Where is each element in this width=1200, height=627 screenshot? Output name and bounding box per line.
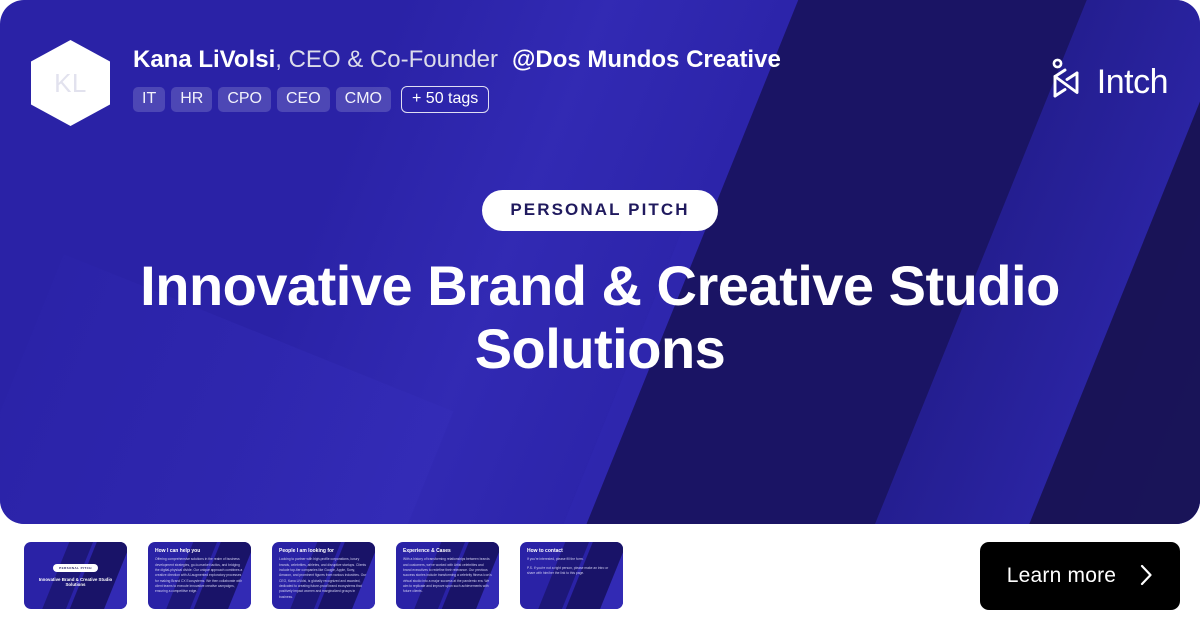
- card-body: Offering comprehensive solutions in the …: [155, 557, 244, 594]
- card-title: Innovative Brand & Creative Studio Solut…: [37, 577, 114, 588]
- tag-cpo[interactable]: CPO: [218, 87, 271, 112]
- profile-company: @Dos Mundos Creative: [512, 46, 781, 73]
- learn-more-label: Learn more: [1007, 564, 1116, 588]
- avatar-initials: KL: [54, 68, 87, 99]
- page-title: Innovative Brand & Creative Studio Solut…: [140, 255, 1060, 380]
- card-title: How to contact: [527, 548, 616, 554]
- slide-thumbnail-3[interactable]: People I am looking for Looking to partn…: [272, 542, 375, 609]
- card-hero-layout: PERSONAL PITCH Innovative Brand & Creati…: [31, 548, 120, 603]
- tag-it[interactable]: IT: [133, 87, 165, 112]
- profile-tag-list: IT HR CPO CEO CMO + 50 tags: [133, 86, 489, 113]
- profile-name: Kana LiVolsi: [133, 46, 275, 73]
- slide-thumbnail-4[interactable]: Experience & Cases With a history of tra…: [396, 542, 499, 609]
- profile-header: KL Kana LiVolsi, CEO & Co-Founder@Dos Mu…: [0, 0, 1200, 164]
- card-content: People I am looking for Looking to partn…: [272, 542, 375, 609]
- card-content: Experience & Cases With a history of tra…: [396, 542, 499, 609]
- card-badge: PERSONAL PITCH: [53, 564, 98, 572]
- card-body: With a history of transforming relations…: [403, 557, 492, 594]
- card-body: Looking to partner with high-profile cor…: [279, 557, 368, 600]
- personal-pitch-badge: PERSONAL PITCH: [482, 190, 717, 231]
- card-content: PERSONAL PITCH Innovative Brand & Creati…: [24, 542, 127, 609]
- hero-content: PERSONAL PITCH Innovative Brand & Creati…: [0, 190, 1200, 380]
- slide-thumbnail-5[interactable]: How to contact If you're interested, ple…: [520, 542, 623, 609]
- slide-thumbnail-1[interactable]: PERSONAL PITCH Innovative Brand & Creati…: [24, 542, 127, 609]
- avatar[interactable]: KL: [31, 40, 110, 126]
- brand-name: Intch: [1097, 63, 1168, 102]
- card-body-secondary: P.S. If you're not a right person, pleas…: [527, 566, 616, 577]
- card-content: How I can help you Offering comprehensiv…: [148, 542, 251, 609]
- tag-ceo[interactable]: CEO: [277, 87, 330, 112]
- card-body: If you're interested, please fill the fo…: [527, 557, 616, 562]
- chevron-right-icon: [1140, 564, 1153, 589]
- tag-cmo[interactable]: CMO: [336, 87, 391, 112]
- card-title: People I am looking for: [279, 548, 368, 554]
- bottom-bar: PERSONAL PITCH Innovative Brand & Creati…: [0, 524, 1200, 627]
- card-content: How to contact If you're interested, ple…: [520, 542, 623, 609]
- card-title: Experience & Cases: [403, 548, 492, 554]
- card-title: How I can help you: [155, 548, 244, 554]
- more-tags-button[interactable]: + 50 tags: [401, 86, 489, 113]
- slide-thumbnail-2[interactable]: How I can help you Offering comprehensiv…: [148, 542, 251, 609]
- hero-panel: KL Kana LiVolsi, CEO & Co-Founder@Dos Mu…: [0, 0, 1200, 524]
- brand-logo[interactable]: Intch: [1049, 58, 1168, 107]
- profile-identity-line: Kana LiVolsi, CEO & Co-Founder@Dos Mundo…: [133, 48, 781, 72]
- slide-thumbnail-list: PERSONAL PITCH Innovative Brand & Creati…: [24, 542, 623, 609]
- learn-more-button[interactable]: Learn more: [980, 542, 1180, 610]
- intch-mark-icon: [1049, 58, 1085, 107]
- profile-role: , CEO & Co-Founder: [275, 46, 498, 73]
- tag-hr[interactable]: HR: [171, 87, 212, 112]
